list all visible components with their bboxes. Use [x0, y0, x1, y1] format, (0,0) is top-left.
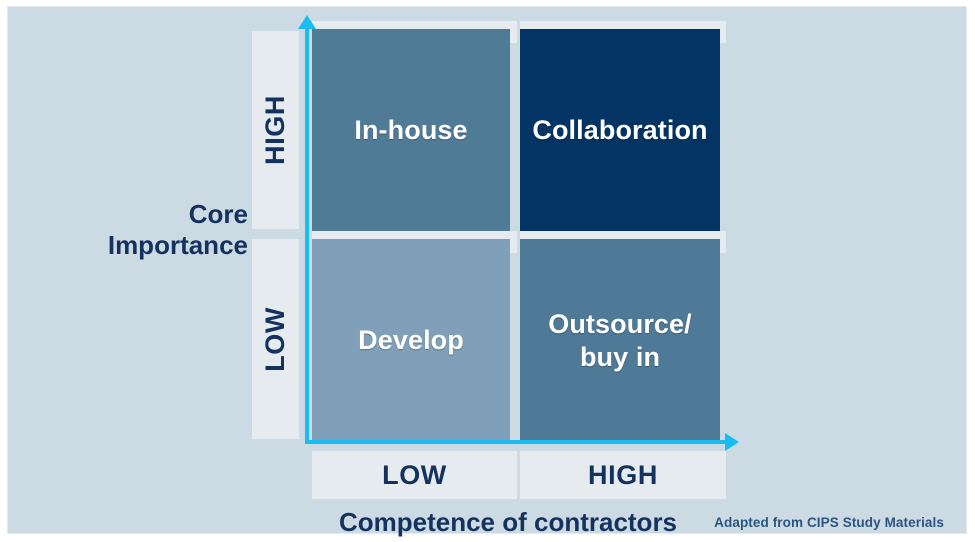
x-axis-arrowhead-icon — [725, 433, 739, 451]
quadrant-develop-label: Develop — [358, 324, 464, 357]
quadrant-outsource-buy-in[interactable]: Outsource/ buy in — [520, 239, 720, 442]
y-axis-title: Core Importance — [48, 199, 248, 261]
x-axis-title: Competence of contractors — [278, 507, 738, 538]
y-axis-level-high-text: HIGH — [260, 95, 291, 165]
diagram-canvas: In-house Collaboration Develop Outsource… — [0, 0, 975, 542]
quadrant-collaboration[interactable]: Collaboration — [520, 29, 720, 231]
x-axis-level-low-text: LOW — [382, 460, 447, 491]
x-axis-level-low: LOW — [312, 451, 517, 499]
y-axis-level-low: LOW — [252, 239, 299, 439]
y-axis-title-line-2: Importance — [48, 230, 248, 261]
y-axis-title-line-1: Core — [48, 199, 248, 230]
y-axis-arrowhead-icon — [298, 15, 316, 29]
y-axis-line — [305, 29, 309, 444]
quadrant-outsource-line-2: buy in — [580, 342, 660, 372]
quadrant-in-house[interactable]: In-house — [312, 29, 510, 231]
quadrant-in-house-label: In-house — [354, 114, 467, 147]
y-axis-level-low-text: LOW — [260, 307, 291, 372]
quadrant-collaboration-label: Collaboration — [532, 114, 707, 147]
quadrant-outsource-line-1: Outsource/ — [548, 309, 692, 339]
y-axis-level-high: HIGH — [252, 31, 299, 229]
quadrant-develop[interactable]: Develop — [312, 239, 510, 442]
attribution-note: Adapted from CIPS Study Materials — [714, 515, 944, 530]
x-axis-level-high: HIGH — [520, 451, 726, 499]
diagram-card: In-house Collaboration Develop Outsource… — [7, 6, 967, 534]
x-axis-level-high-text: HIGH — [588, 460, 658, 491]
quadrant-outsource-buy-in-label: Outsource/ buy in — [548, 308, 692, 374]
x-axis-line — [305, 440, 725, 444]
